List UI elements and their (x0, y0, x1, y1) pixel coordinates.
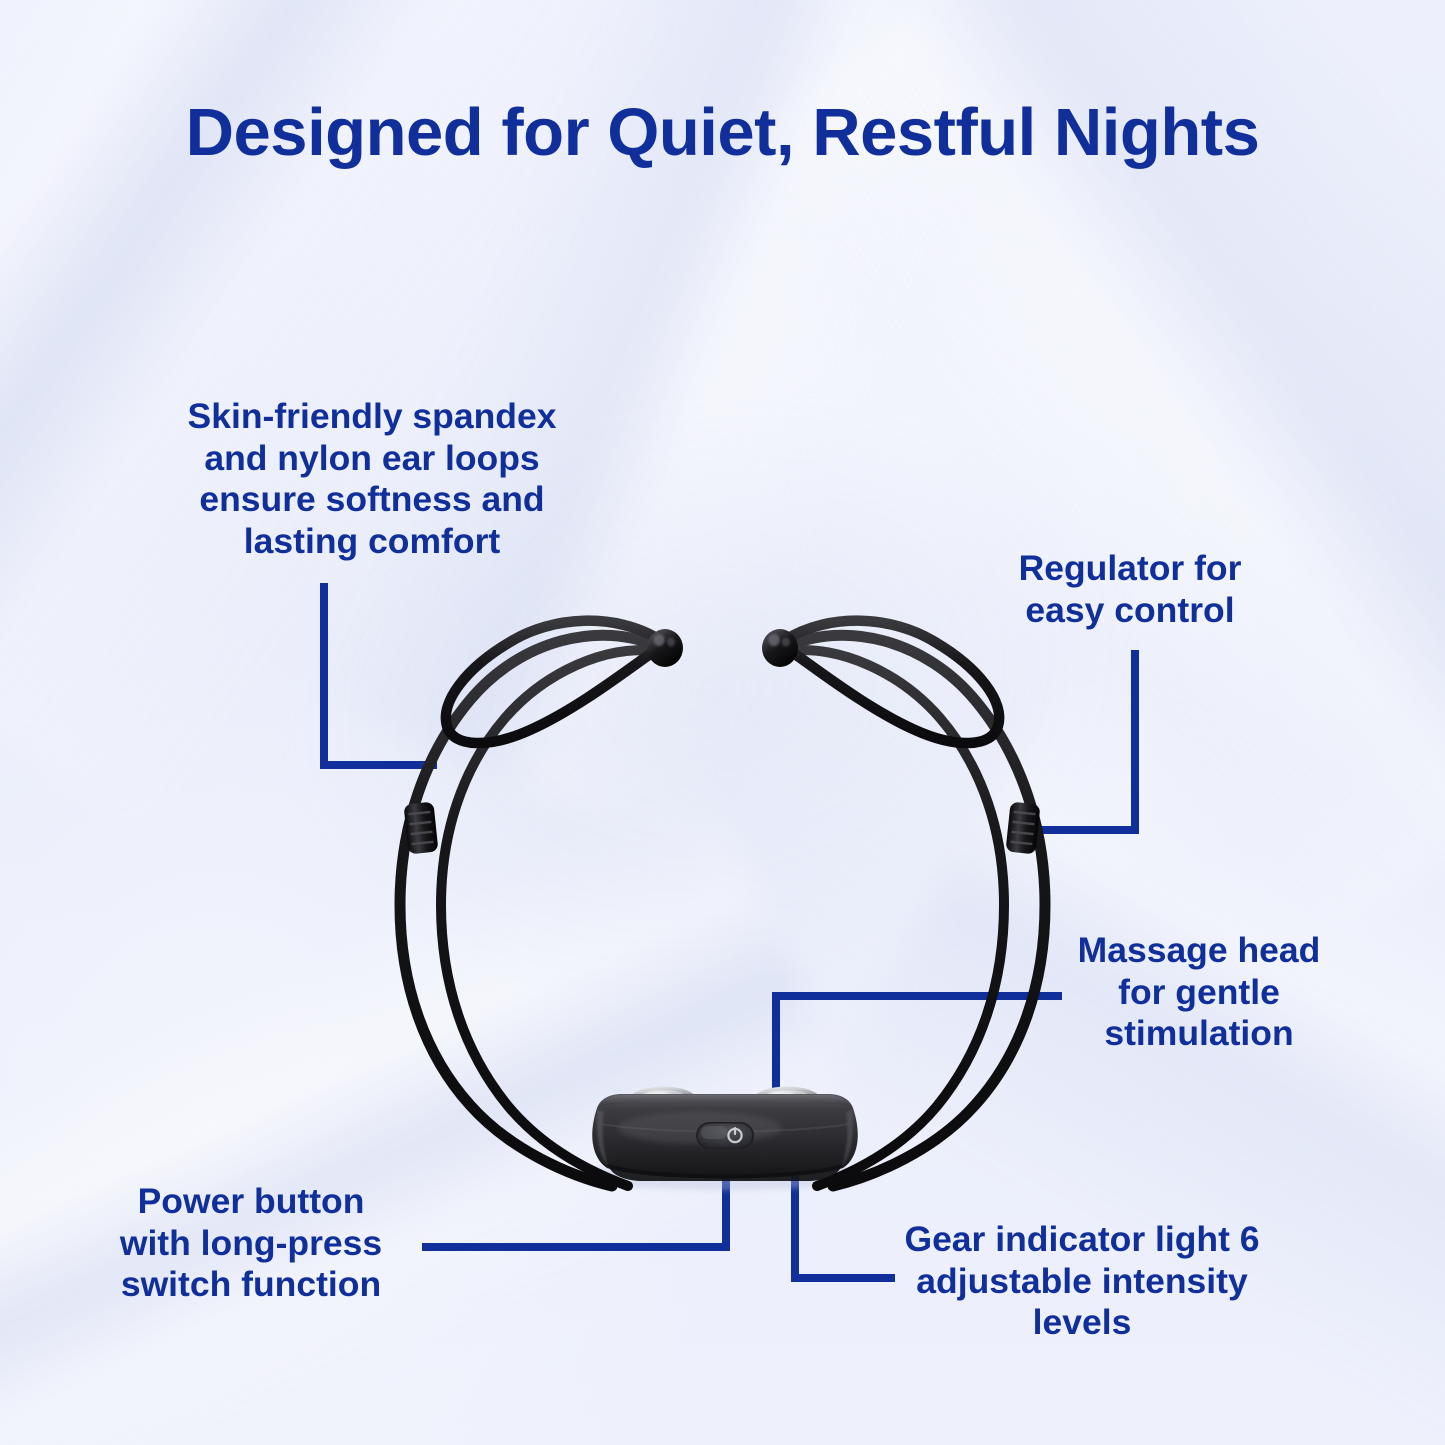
infographic-canvas: Designed for Quiet, Restful Nights (0, 0, 1445, 1445)
callout-ear-loops: Skin-friendly spandex and nylon ear loop… (150, 396, 594, 562)
leader-line-massage-head (776, 996, 1062, 1108)
callout-power-button: Power button with long-press switch func… (76, 1181, 426, 1306)
cord-regulator-left (403, 802, 438, 855)
callout-massage-head: Massage head for gentle stimulation (1039, 930, 1359, 1055)
leader-line-regulator (1022, 650, 1135, 830)
leader-line-ear-loops (324, 583, 437, 765)
callout-regulator: Regulator for easy control (977, 548, 1283, 631)
cord-bead-right (762, 629, 798, 667)
power-button[interactable] (696, 1122, 754, 1149)
cord-regulator-right (1005, 802, 1040, 855)
callout-gear-indicator: Gear indicator light 6 adjustable intens… (876, 1219, 1288, 1344)
cord-bead-left (647, 629, 683, 667)
